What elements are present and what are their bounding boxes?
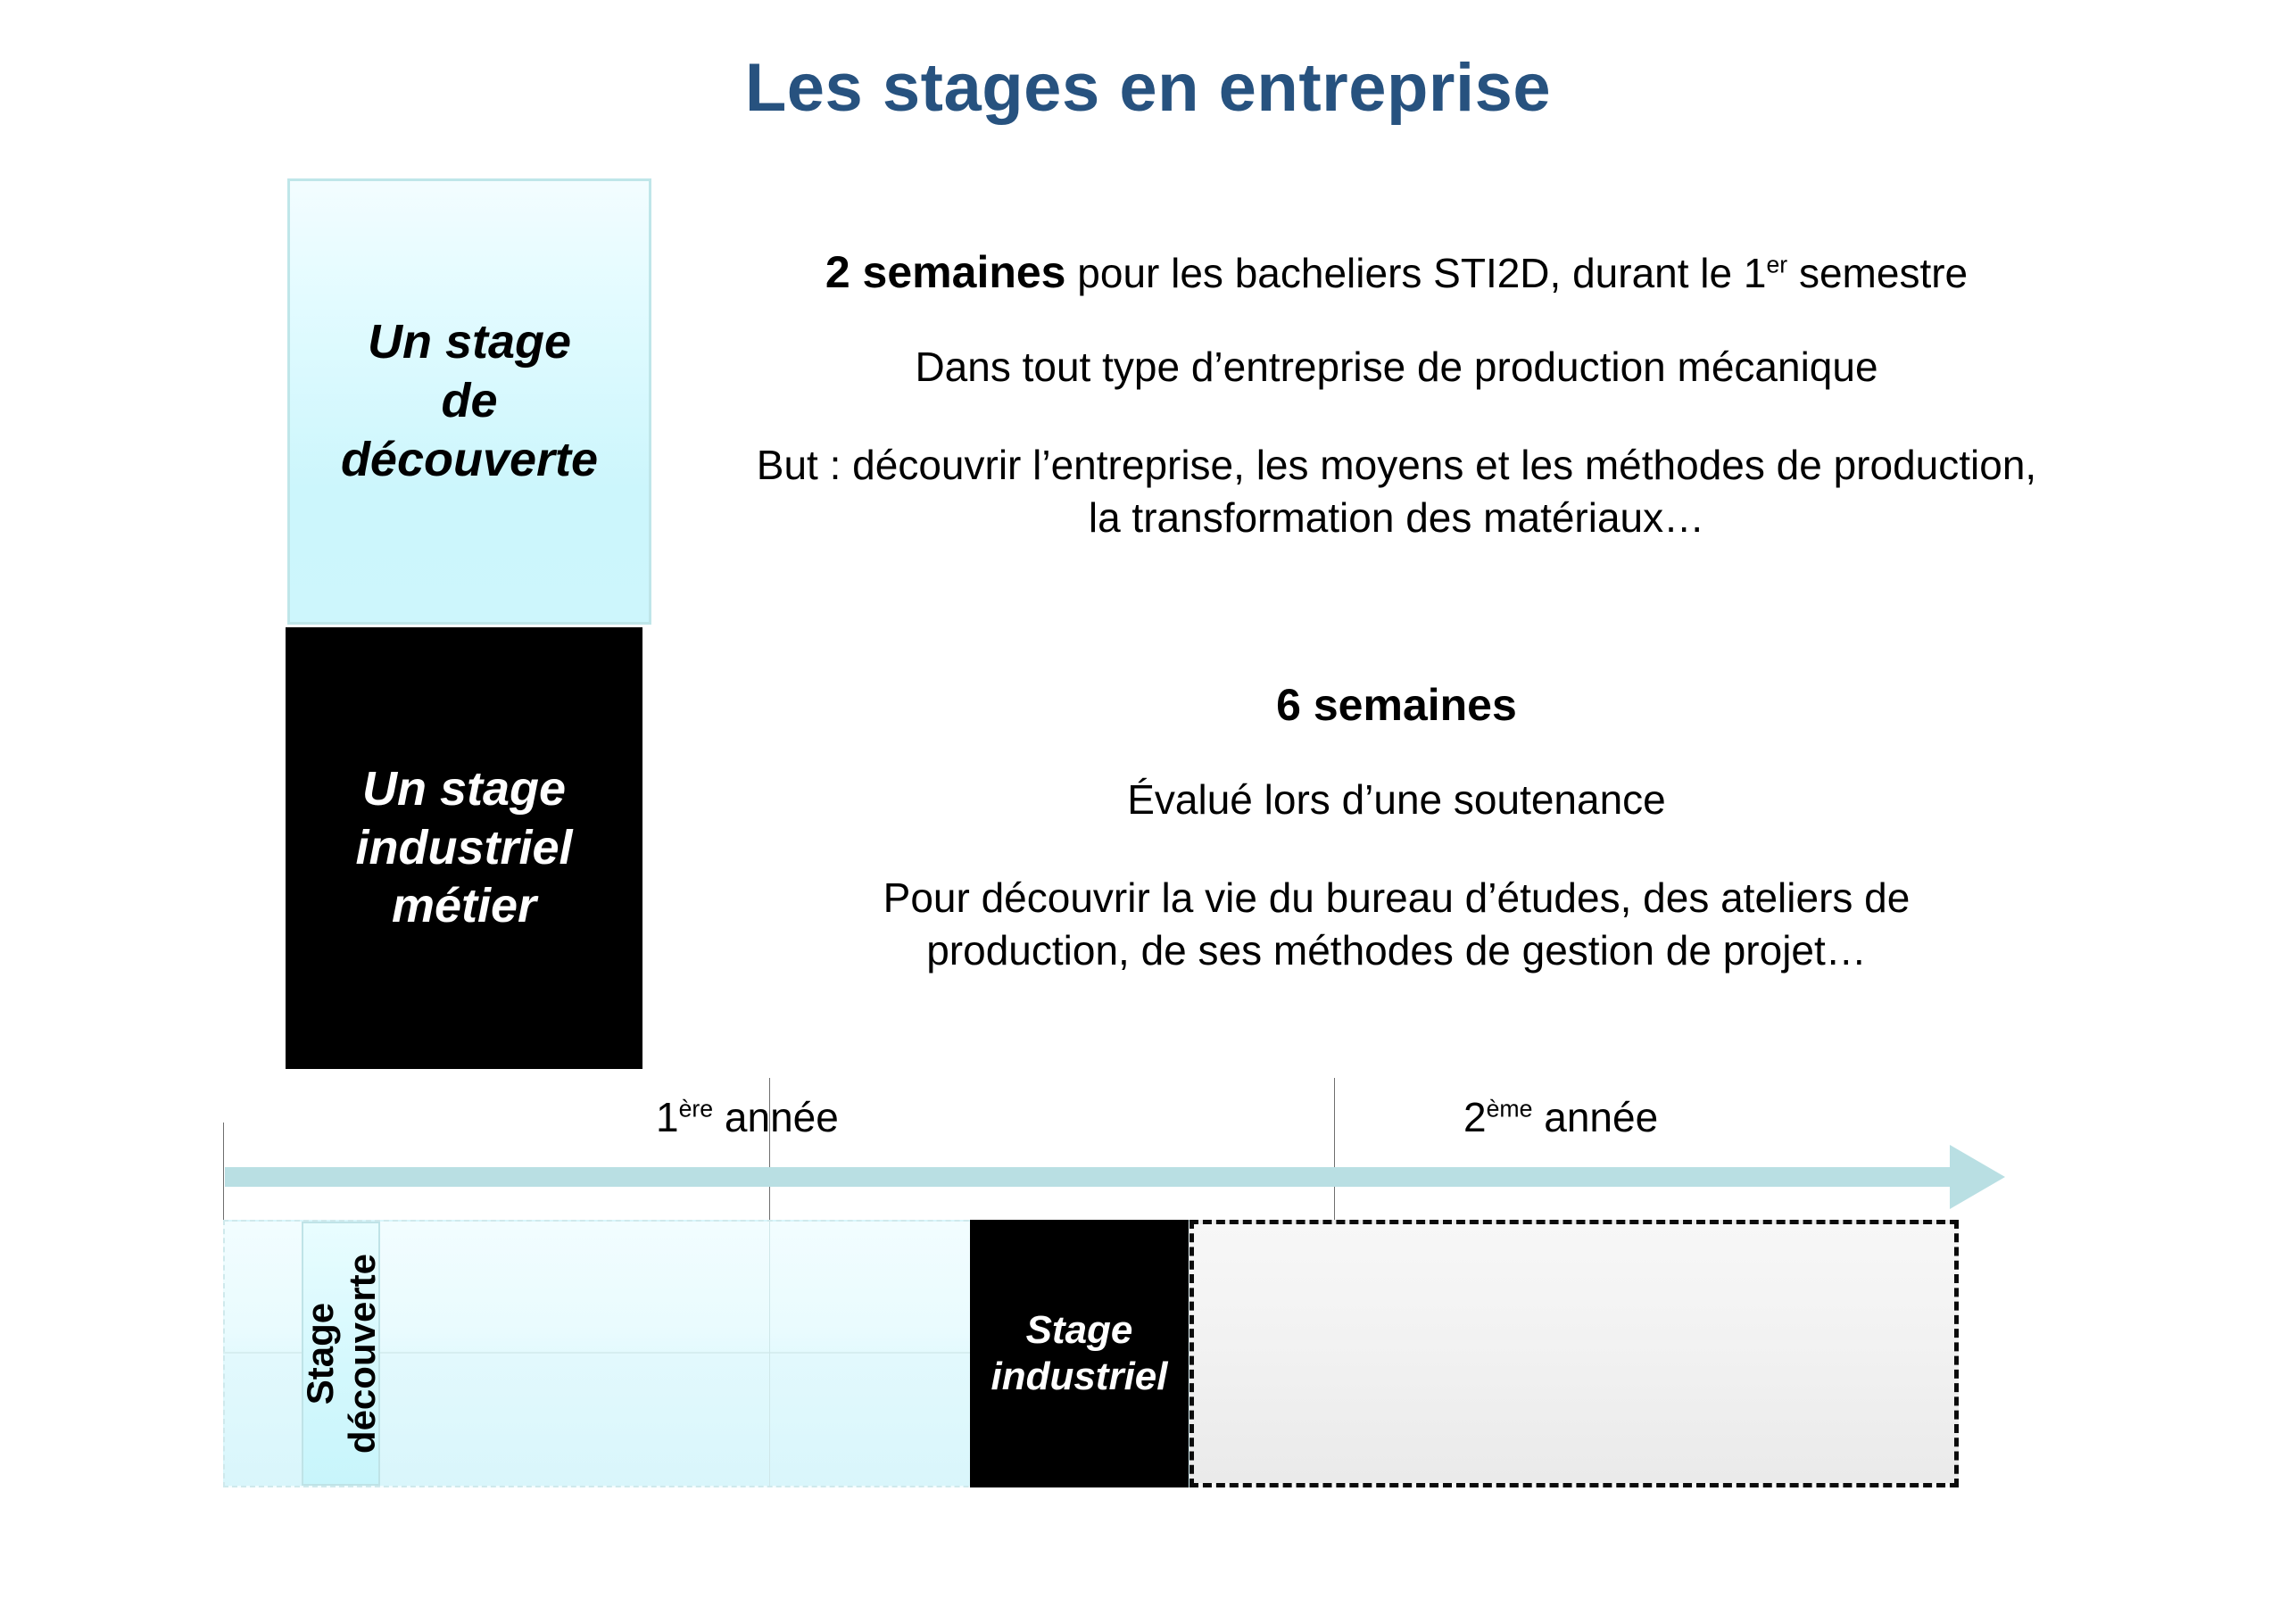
timeline-arrow-shaft [225, 1167, 1958, 1187]
timeline-block-year2 [1189, 1220, 1959, 1487]
discovery-where-line: Dans tout type d’entreprise de productio… [656, 346, 2137, 387]
callout-decouverte-line3: découverte [341, 431, 598, 490]
industrial-goal-line1: Pour découvrir la vie du bureau d’études… [883, 874, 1911, 921]
industrial-evaluation-line: Évalué lors d’une soutenance [656, 779, 2137, 820]
description-stage-decouverte: 2 semaines pour les bacheliers STI2D, du… [656, 250, 2137, 544]
slide-canvas: Les stages en entreprise Un stage de déc… [0, 0, 2296, 1624]
timeline-label-year2: 2ème année [1463, 1093, 1658, 1141]
timeline-plot-area: Stage découverte Stage industriel [223, 1220, 1959, 1487]
timeline-bar-stage-industriel: Stage industriel [970, 1220, 1189, 1487]
year2-prefix: 2 [1463, 1094, 1487, 1140]
callout-industriel-text: Un stage industriel métier [355, 760, 572, 937]
callout-decouverte-line1: Un stage [341, 313, 598, 372]
timeline-bar-industriel-line2: industriel [991, 1355, 1167, 1398]
year1-suffix: année [713, 1094, 839, 1140]
discovery-goal-line1: But : découvrir l’entreprise, les moyens… [757, 442, 2036, 488]
page-title: Les stages en entreprise [0, 49, 2296, 127]
discovery-duration-rest: pour les bacheliers STI2D, durant le 1 [1066, 250, 1767, 296]
timeline-bar-industriel-line1: Stage [1026, 1308, 1133, 1352]
timeline-bar-decouverte-label: Stage découverte [299, 1254, 383, 1454]
timeline-bar-decouverte-line2: découverte [341, 1254, 383, 1454]
industrial-duration-line: 6 semaines [656, 683, 2137, 727]
timeline-arrow-head-icon [1950, 1145, 2005, 1209]
callout-industriel-line1: Un stage [355, 760, 572, 819]
discovery-duration-line: 2 semaines pour les bacheliers STI2D, du… [656, 250, 2137, 294]
timeline-plot-gridline-1 [769, 1220, 770, 1487]
description-stage-industriel: 6 semaines Évalué lors d’une soutenance … [656, 683, 2137, 977]
discovery-goal: But : découvrir l’entreprise, les moyens… [656, 439, 2137, 544]
callout-decouverte-text: Un stage de découverte [341, 313, 598, 490]
timeline-label-year1: 1ère année [656, 1093, 839, 1141]
discovery-duration-sup: er [1766, 252, 1787, 278]
year1-prefix: 1 [656, 1094, 679, 1140]
timeline-bar-industriel-label: Stage industriel [991, 1307, 1167, 1400]
timeline-bar-stage-decouverte: Stage découverte [302, 1222, 380, 1486]
industrial-goal: Pour découvrir la vie du bureau d’études… [656, 872, 2137, 977]
callout-industriel-line3: métier [355, 877, 572, 936]
discovery-goal-line2: la transformation des matériaux… [1089, 494, 1704, 541]
industrial-goal-line2: production, de ses méthodes de gestion d… [926, 927, 1867, 974]
discovery-duration-tail: semestre [1787, 250, 1968, 296]
callout-stage-industriel-metier: Un stage industriel métier [286, 627, 642, 1069]
callout-stage-decouverte: Un stage de découverte [287, 178, 651, 625]
discovery-duration-bold: 2 semaines [825, 247, 1066, 297]
timeline-chart: 1ère année 2ème année Stage découverte S… [0, 1053, 2296, 1499]
timeline-bar-decouverte-line1: Stage [299, 1303, 341, 1404]
callout-industriel-line2: industriel [355, 819, 572, 878]
callout-decouverte-line2: de [341, 372, 598, 431]
industrial-duration: 6 semaines [1276, 680, 1517, 730]
year1-sup: ère [679, 1096, 714, 1123]
year2-suffix: année [1532, 1094, 1658, 1140]
year2-sup: ème [1487, 1096, 1533, 1123]
